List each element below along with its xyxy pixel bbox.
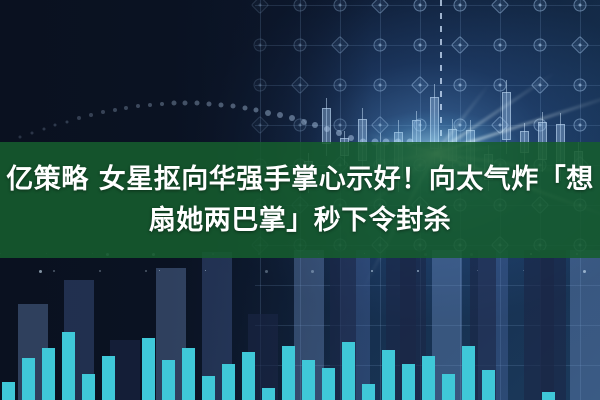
trajectory-dot (54, 124, 57, 127)
trajectory-dot (312, 122, 318, 128)
grid-node (331, 36, 349, 54)
trajectory-dot (89, 113, 93, 117)
chart-bar (362, 384, 375, 400)
chart-bar (402, 364, 415, 400)
chart-bar (302, 360, 315, 400)
banner-image: 亿策略 女星抠向华强手掌心示好！向太气炸「想 扇她两巴掌」秒下令封杀 (0, 0, 600, 400)
trajectory-dot (183, 101, 188, 106)
trajectory-dot (254, 108, 259, 113)
trajectory-dot (195, 101, 200, 106)
grid-node (534, 0, 547, 12)
grid-node (374, 39, 387, 52)
chart-bar (322, 368, 335, 400)
grid-node (414, 39, 427, 52)
headline: 亿策略 女星抠向华强手掌心示好！向太气炸「想 扇她两巴掌」秒下令封杀 (0, 142, 600, 258)
chart-bar (182, 348, 195, 400)
headline-line-1: 亿策略 女星抠向华强手掌心示好！向太气炸「想 (0, 159, 600, 200)
grid-node (294, 39, 307, 52)
grid-node (414, 0, 427, 12)
chart-bar (542, 392, 555, 400)
trajectory-dot (42, 128, 45, 131)
trajectory-dot (301, 119, 307, 125)
trajectory-dot (265, 110, 271, 116)
chart-bar (262, 388, 275, 400)
trajectory-dot (242, 105, 247, 110)
bar-chart (0, 250, 600, 400)
trajectory-dot (77, 116, 81, 120)
trajectory-dot (136, 104, 140, 108)
trajectory-dot (207, 101, 212, 106)
chart-bar (142, 338, 155, 400)
trajectory-dot (101, 110, 105, 114)
chart-bar (62, 332, 75, 400)
grid-node (454, 0, 467, 12)
trajectory-dot (218, 102, 223, 107)
grid-node (294, 0, 307, 12)
chart-bar (242, 352, 255, 400)
chart-bar (22, 358, 35, 400)
chart-bar (102, 356, 115, 400)
trajectory-dot (160, 102, 164, 106)
grid-node (494, 39, 507, 52)
trajectory-dot (277, 112, 283, 118)
grid-node (451, 36, 469, 54)
grid-node (254, 39, 267, 52)
chart-bar (442, 374, 455, 400)
trajectory-dot (19, 136, 22, 139)
chart-bar (82, 374, 95, 400)
chart-bar (282, 346, 295, 400)
headline-line-2: 扇她两巴掌」秒下令封杀 (141, 200, 460, 241)
chart-bar (462, 346, 475, 400)
chart-bar (2, 382, 15, 400)
chart-bar (382, 350, 395, 400)
chart-bar (222, 364, 235, 400)
trajectory-dot (289, 115, 295, 121)
grid-node (334, 0, 347, 12)
trajectory-dot (171, 101, 176, 106)
grid-node (574, 0, 587, 12)
chart-bar (482, 370, 495, 400)
chart-bar (202, 376, 215, 400)
trajectory-dot (230, 104, 235, 109)
chart-bar (422, 356, 435, 400)
grid-node (371, 0, 389, 14)
trajectory-dot (30, 132, 33, 135)
trajectory-dot (113, 108, 117, 112)
chart-bar (42, 348, 55, 400)
grid-node (571, 36, 589, 54)
chart-bar (342, 342, 355, 400)
trajectory-dot (124, 106, 128, 110)
trajectory-dot (148, 103, 152, 107)
grid-node (491, 0, 509, 14)
grid-node (534, 39, 547, 52)
chart-bar (162, 360, 175, 400)
trajectory-dot (66, 120, 69, 123)
